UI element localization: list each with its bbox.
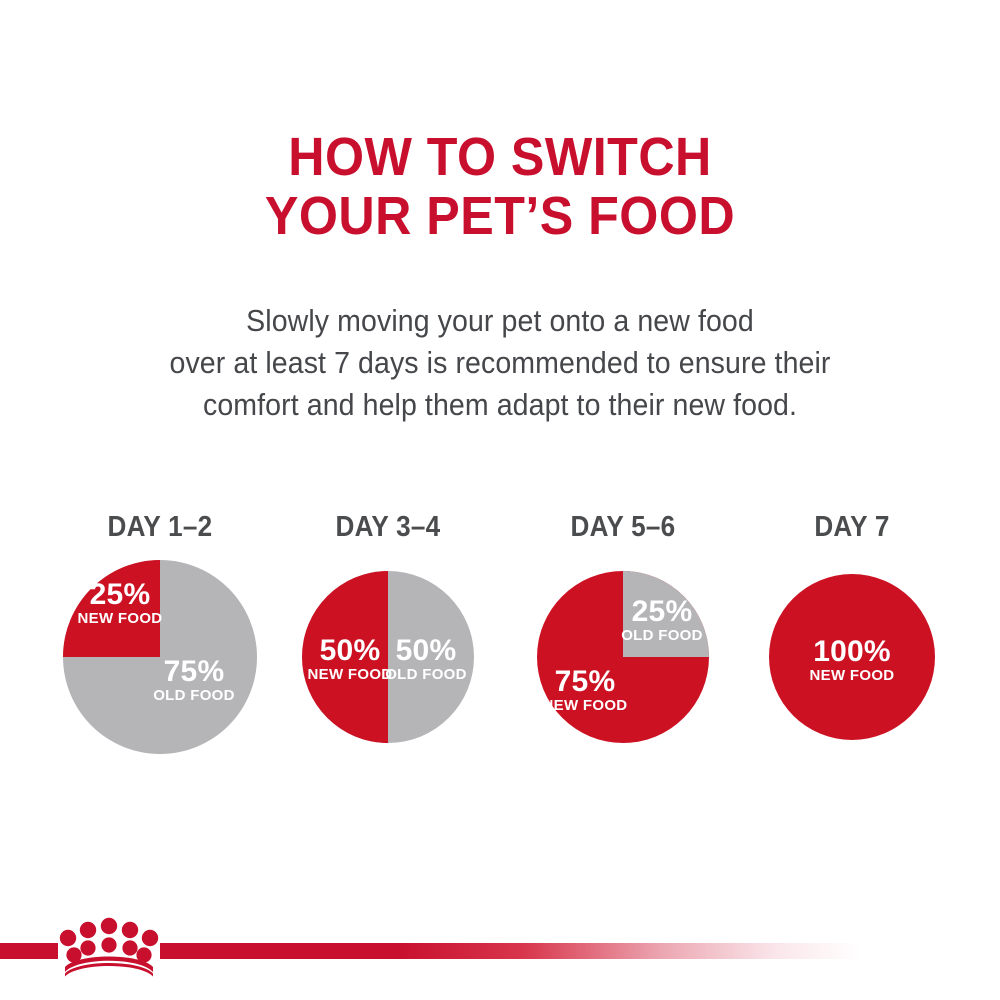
day-label: DAY 1–2 — [48, 512, 273, 542]
slice-value-old-food: 50% — [396, 634, 457, 667]
slice-value-new-food: 100% — [813, 635, 891, 668]
slice-sublabel-old-food: OLD FOOD — [621, 627, 703, 644]
slice-value-new-food: 50% — [320, 634, 381, 667]
slice-sublabel-new-food: NEW FOOD — [543, 697, 628, 714]
slice-sublabel-old-food: OLD FOOD — [153, 687, 235, 704]
subtitle-line-2: over at least 7 days is recommended to e… — [40, 342, 960, 384]
page-title: HOW TO SWITCH YOUR PET’S FOOD — [0, 128, 1000, 246]
day-label: DAY 7 — [740, 512, 965, 542]
footer-rule-left — [0, 943, 58, 959]
pie-chart-row: DAY 1–2 25% NEW FOOD 75% OLD FOOD DAY 3–… — [0, 500, 1000, 770]
title-line-2: YOUR PET’S FOOD — [35, 187, 965, 246]
infographic-canvas: HOW TO SWITCH YOUR PET’S FOOD Slowly mov… — [0, 0, 1000, 1000]
pie-chart-day-7: DAY 7 100% NEW FOOD — [727, 500, 977, 770]
pie-graphic-wrap: 50% NEW FOOD 50% OLD FOOD — [263, 557, 513, 757]
day-label: DAY 5–6 — [511, 512, 736, 542]
slice-value-new-food: 75% — [555, 665, 616, 698]
pie-svg-day-5-6: 25% OLD FOOD 75% NEW FOOD — [523, 557, 723, 757]
slice-sublabel-old-food: OLD FOOD — [385, 666, 467, 683]
pie-chart-day-5-6: DAY 5–6 25% OLD FOOD 75% NEW FOOD — [498, 500, 748, 770]
footer-rule-right-gradient — [160, 943, 860, 959]
pie-svg-day-7: 100% NEW FOOD — [752, 557, 952, 757]
title-line-1: HOW TO SWITCH — [35, 128, 965, 187]
slice-sublabel-new-food: NEW FOOD — [810, 667, 895, 684]
pie-svg-day-3-4: 50% NEW FOOD 50% OLD FOOD — [288, 557, 488, 757]
pie-graphic-wrap: 100% NEW FOOD — [727, 557, 977, 757]
slice-value-old-food: 25% — [632, 595, 693, 628]
footer — [0, 905, 1000, 1000]
day-label: DAY 3–4 — [276, 512, 501, 542]
pie-svg-day-1-2: 25% NEW FOOD 75% OLD FOOD — [60, 557, 260, 757]
pie-graphic-wrap: 25% NEW FOOD 75% OLD FOOD — [35, 557, 285, 757]
pie-chart-day-3-4: DAY 3–4 50% NEW FOOD 50% OLD FOOD — [263, 500, 513, 770]
subtitle-paragraph: Slowly moving your pet onto a new food o… — [0, 300, 1000, 426]
slice-sublabel-new-food: NEW FOOD — [308, 666, 393, 683]
crown-icon — [52, 915, 166, 977]
subtitle-line-3: comfort and help them adapt to their new… — [40, 384, 960, 426]
royal-canin-crown-logo — [52, 915, 166, 977]
subtitle-line-1: Slowly moving your pet onto a new food — [40, 300, 960, 342]
pie-graphic-wrap: 25% OLD FOOD 75% NEW FOOD — [498, 557, 748, 757]
slice-sublabel-new-food: NEW FOOD — [78, 610, 163, 627]
pie-chart-day-1-2: DAY 1–2 25% NEW FOOD 75% OLD FOOD — [35, 500, 285, 770]
slice-value-new-food: 25% — [90, 578, 151, 611]
slice-value-old-food: 75% — [164, 655, 225, 688]
